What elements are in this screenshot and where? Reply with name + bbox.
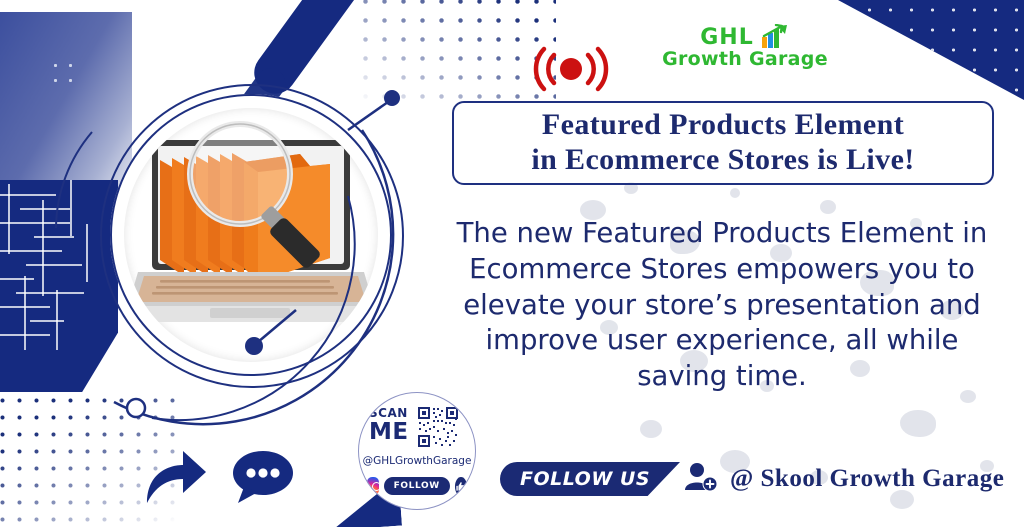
thumbs-up-icon[interactable] bbox=[455, 477, 467, 496]
title-box: Featured Products Element in Ecommerce S… bbox=[452, 101, 994, 185]
follow-pill-button[interactable]: FOLLOW bbox=[384, 477, 450, 495]
qr-handle: @GHLGrowthGarage bbox=[359, 455, 475, 467]
brand-logo[interactable]: GHL Growth Garage bbox=[655, 24, 835, 82]
poster-canvas: GHL Growth Garage Featured Products Elem… bbox=[0, 0, 1024, 527]
logo-name-text: Growth Garage bbox=[655, 48, 835, 70]
add-person-icon bbox=[684, 461, 718, 498]
qr-code-icon[interactable] bbox=[417, 406, 459, 448]
scan-me-label: SCAN ME bbox=[369, 407, 409, 444]
qr-social-row[interactable]: FOLLOW bbox=[367, 473, 467, 499]
comment-bubble-icon[interactable] bbox=[232, 449, 294, 505]
follow-bar[interactable]: FOLLOW US @ Skool Growth Garage bbox=[500, 458, 1004, 500]
instagram-icon[interactable] bbox=[367, 477, 379, 495]
qr-scan-badge[interactable]: SCAN ME @GHLGrowthGarage bbox=[358, 392, 476, 510]
hero-illustration-circle bbox=[96, 80, 414, 410]
body-copy: The new Featured Products Element in Eco… bbox=[444, 216, 1000, 395]
me-word: ME bbox=[369, 421, 409, 444]
top-right-triangle bbox=[838, 0, 1024, 100]
follow-handle[interactable]: @ Skool Growth Garage bbox=[730, 465, 1004, 493]
growth-arrow-icon bbox=[756, 24, 790, 50]
live-broadcast-icon bbox=[528, 45, 614, 93]
logo-ghl-text: GHL bbox=[700, 25, 754, 50]
page-title: Featured Products Element in Ecommerce S… bbox=[521, 108, 924, 178]
follow-us-badge[interactable]: FOLLOW US bbox=[500, 462, 680, 496]
logo-top-row: GHL bbox=[655, 24, 835, 50]
title-line-1: Featured Products Element bbox=[531, 108, 914, 143]
scan-word: SCAN bbox=[369, 407, 409, 419]
title-line-2: in Ecommerce Stores is Live! bbox=[531, 143, 914, 178]
top-right-triangle-dots bbox=[838, 0, 1024, 100]
share-arrow-icon[interactable] bbox=[143, 447, 209, 507]
